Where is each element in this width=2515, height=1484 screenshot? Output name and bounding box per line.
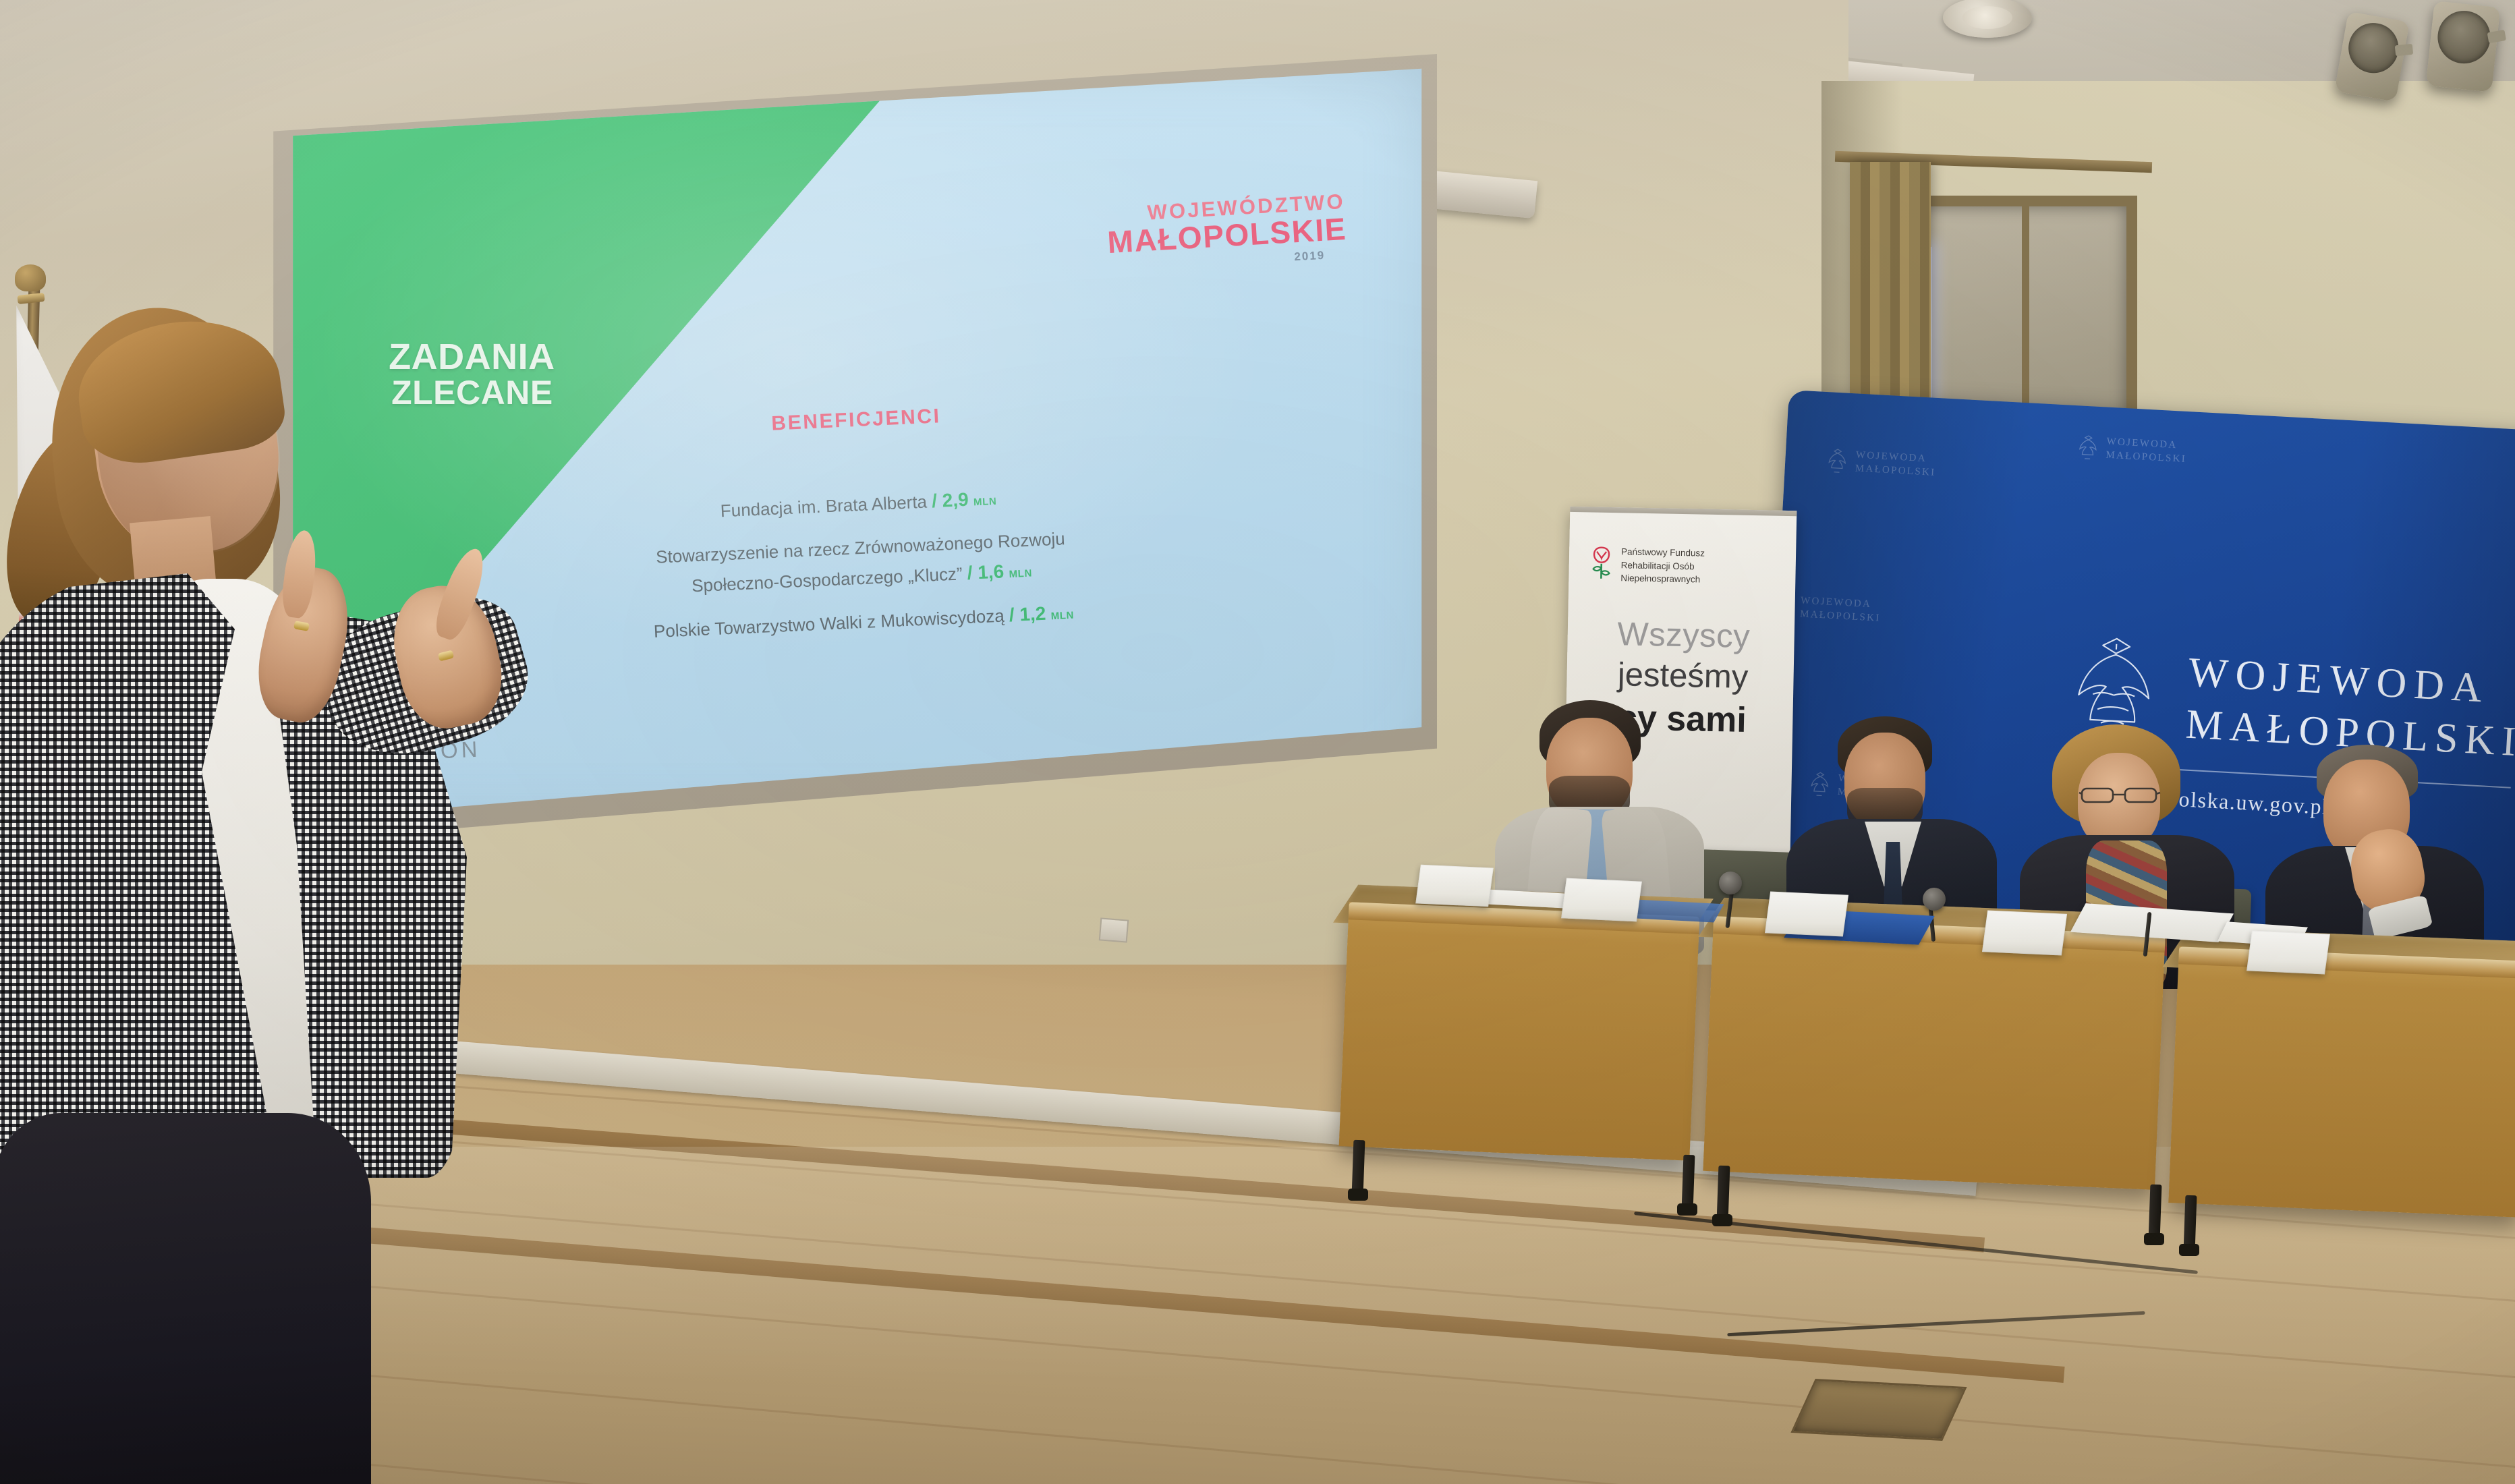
beneficiary-name: Polskie Towarzystwo Walki z Mukowiscydoz… xyxy=(654,606,1005,642)
speaker-grille-icon xyxy=(2345,19,2402,77)
slide-brand-logo: WOJEWÓDZTWO MAŁOPOLSKIE 2019 xyxy=(1105,191,1348,273)
rollup-slogan-line1: Wszyscy xyxy=(1585,615,1782,656)
window-mullion xyxy=(2022,206,2029,428)
microphone-icon xyxy=(1923,888,1946,911)
beneficiary-amount: / 1,2 xyxy=(1009,603,1047,625)
table-leg xyxy=(1352,1140,1365,1196)
beneficiary-amount: / 1,6 xyxy=(967,561,1005,583)
speaker-mount xyxy=(2395,43,2414,56)
conference-table xyxy=(2168,946,2515,1217)
backdrop-tile-text: WOJEWODAMAŁOPOLSKI xyxy=(1799,594,1882,625)
beneficiary-unit: MLN xyxy=(1051,610,1075,623)
backdrop-tile-text: WOJEWODAMAŁOPOLSKI xyxy=(2106,434,2188,466)
floor-vent-grate xyxy=(1790,1379,1967,1441)
pfron-logo-text: Państwowy Fundusz Rehabilitacji Osób Nie… xyxy=(1620,545,1705,586)
backdrop-watermark-tile: WOJEWODAMAŁOPOLSKI xyxy=(1825,446,1937,480)
name-placard xyxy=(1561,878,1642,922)
table-foot xyxy=(2179,1244,2199,1256)
beneficiary-amount: / 2,9 xyxy=(932,489,969,511)
table-leg xyxy=(2149,1185,2162,1240)
table-foot xyxy=(1677,1203,1697,1216)
beneficiary-unit: MLN xyxy=(973,496,997,509)
backdrop-watermark-tile: WOJEWODAMAŁOPOLSKI xyxy=(2076,432,2188,467)
name-placard xyxy=(1415,865,1494,907)
microphone-icon xyxy=(1719,872,1742,894)
table-leg xyxy=(1717,1166,1730,1222)
glasses-icon xyxy=(2078,785,2161,804)
speaker-grille-icon xyxy=(2435,8,2493,66)
conference-table xyxy=(1703,916,2165,1190)
beneficiary-name: Fundacja im. Brata Alberta xyxy=(720,491,928,521)
wall-speaker-icon xyxy=(2426,1,2501,92)
backdrop-tile-text: WOJEWODAMAŁOPOLSKI xyxy=(1855,448,1937,480)
eagle-crest-icon xyxy=(2076,432,2100,462)
name-placard xyxy=(2246,931,2330,975)
name-placard xyxy=(1765,892,1848,937)
power-outlet xyxy=(1099,917,1129,942)
eagle-crest-icon xyxy=(1825,446,1849,476)
table-leg xyxy=(1682,1155,1695,1211)
conference-room-photo: WOJEWODAMAŁOPOLSKI WOJEWODAMAŁOPOLSKI WO… xyxy=(0,0,2515,1484)
name-placard xyxy=(1982,910,2067,955)
black-trousers xyxy=(0,1113,371,1484)
rollup-slogan-line2: jesteśmy xyxy=(1584,655,1782,697)
presenter-woman xyxy=(0,317,486,1484)
conference-table xyxy=(1339,902,1700,1160)
table-foot xyxy=(1348,1189,1368,1201)
flag-finial xyxy=(15,264,46,291)
table-foot xyxy=(1712,1214,1732,1226)
table-foot xyxy=(2144,1233,2164,1245)
beneficiary-name: Społeczno-Gospodarczego „Klucz” xyxy=(691,563,963,596)
table-leg xyxy=(2184,1195,2197,1251)
tulip-icon xyxy=(1589,544,1614,580)
pfron-logo: Państwowy Fundusz Rehabilitacji Osób Nie… xyxy=(1589,544,1705,586)
beneficiary-unit: MLN xyxy=(1009,567,1033,580)
